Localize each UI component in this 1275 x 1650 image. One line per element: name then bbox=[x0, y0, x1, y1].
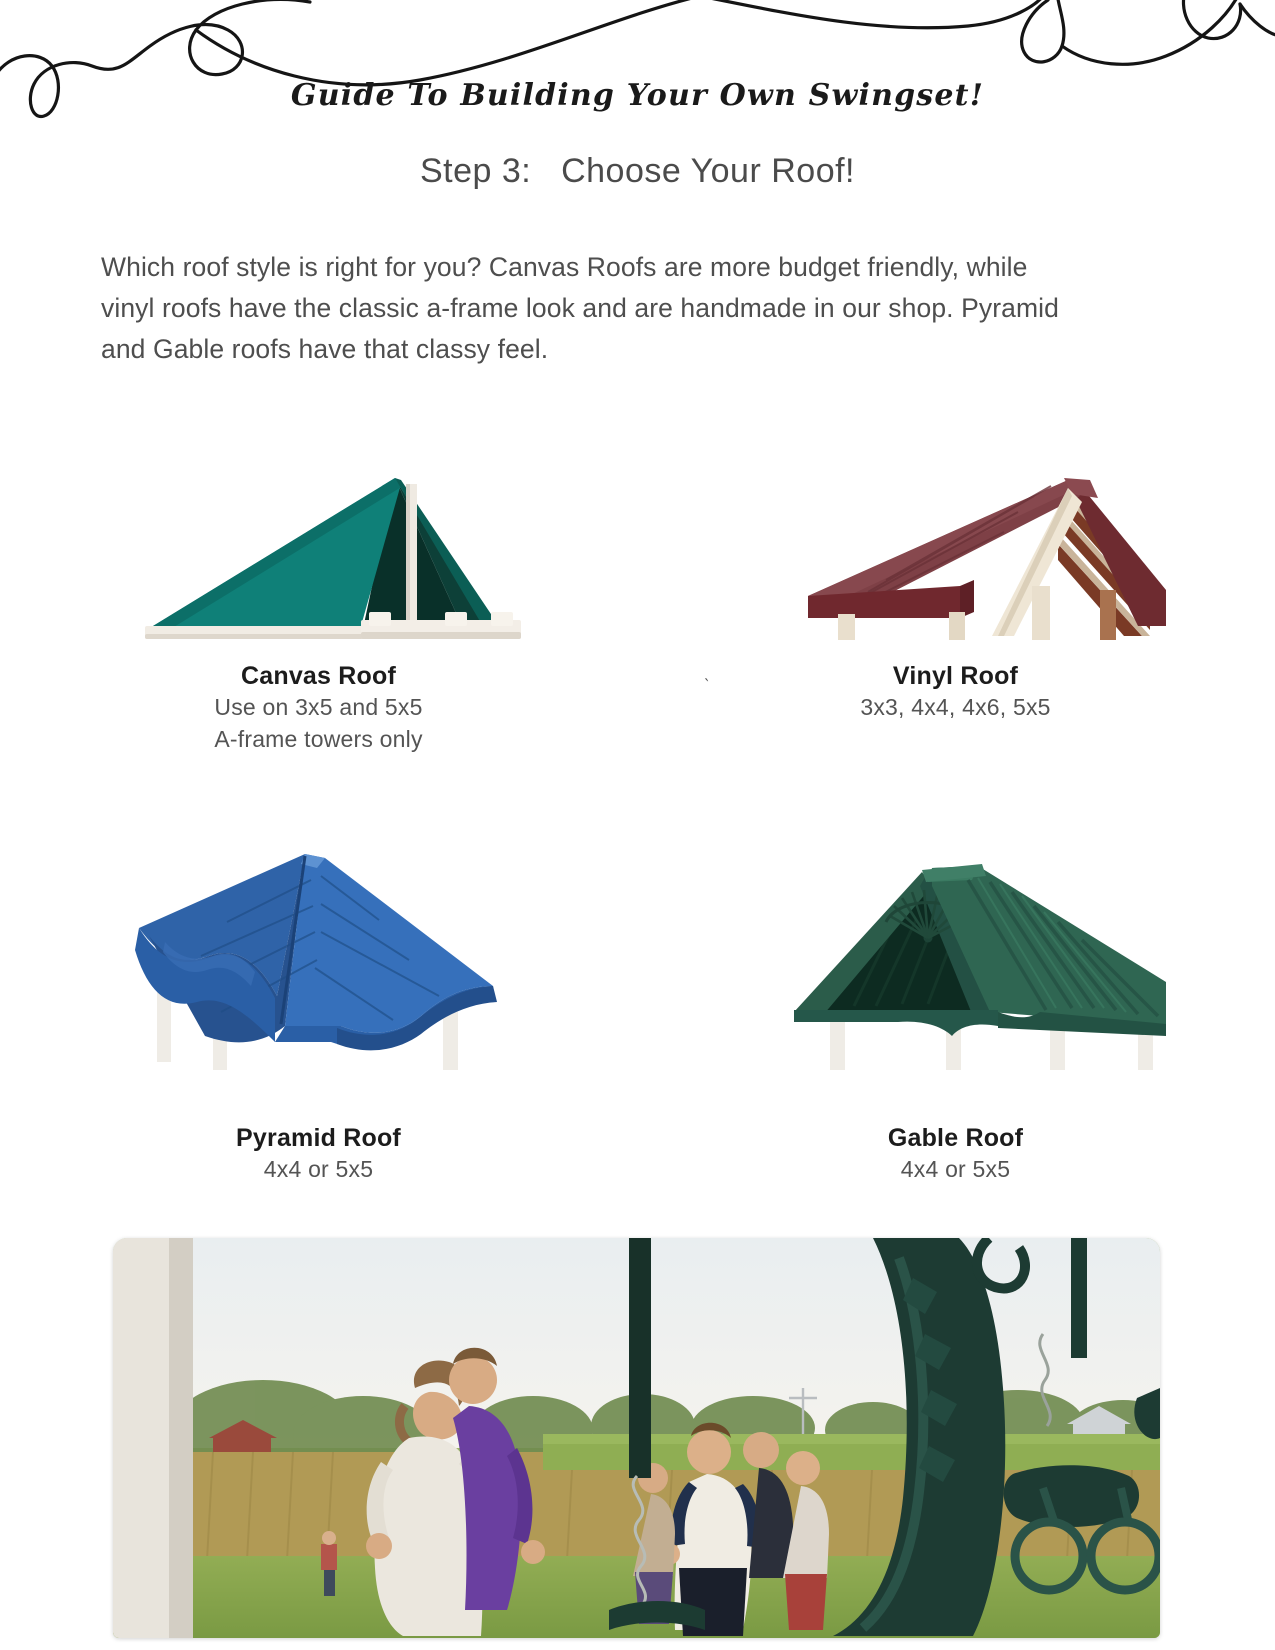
roof-options-grid: Canvas Roof Use on 3x5 and 5x5 A-frame t… bbox=[0, 440, 1275, 1185]
roof-option-vinyl[interactable]: Vinyl Roof 3x3, 4x4, 4x6, 5x5 bbox=[637, 440, 1274, 755]
gable-roof-image bbox=[746, 810, 1166, 1070]
pyramid-roof-image bbox=[109, 810, 529, 1070]
gable-roof-sub-1: 4x4 or 5x5 bbox=[888, 1153, 1023, 1185]
children-running-photo-image bbox=[113, 1238, 1160, 1638]
gable-roof-title: Gable Roof bbox=[888, 1124, 1023, 1153]
roof-option-pyramid[interactable]: Pyramid Roof 4x4 or 5x5 bbox=[0, 810, 637, 1185]
canvas-roof-image bbox=[109, 440, 529, 640]
playground-photo bbox=[113, 1238, 1160, 1638]
vinyl-roof-caption: Vinyl Roof 3x3, 4x4, 4x6, 5x5 bbox=[860, 662, 1050, 723]
canvas-roof-sub-2: A-frame towers only bbox=[214, 723, 422, 755]
intro-paragraph: Which roof style is right for you? Canva… bbox=[101, 247, 1061, 370]
roof-row-2: Pyramid Roof 4x4 or 5x5 bbox=[0, 810, 1275, 1185]
canvas-roof-figure bbox=[0, 440, 637, 640]
vinyl-roof-title: Vinyl Roof bbox=[860, 662, 1050, 691]
roof-option-canvas[interactable]: Canvas Roof Use on 3x5 and 5x5 A-frame t… bbox=[0, 440, 637, 755]
pyramid-roof-caption: Pyramid Roof 4x4 or 5x5 bbox=[236, 1124, 401, 1185]
canvas-roof-title: Canvas Roof bbox=[214, 662, 422, 691]
roof-option-gable[interactable]: Gable Roof 4x4 or 5x5 bbox=[637, 810, 1274, 1185]
pyramid-roof-title: Pyramid Roof bbox=[236, 1124, 401, 1153]
vinyl-roof-sub-1: 3x3, 4x4, 4x6, 5x5 bbox=[860, 691, 1050, 723]
gable-roof-figure bbox=[637, 810, 1274, 1070]
page-title: Guide To Building Your Own Swingset! bbox=[0, 78, 1275, 113]
step-heading: Step 3: Choose Your Roof! bbox=[0, 152, 1275, 191]
vinyl-roof-image bbox=[746, 440, 1166, 640]
pyramid-roof-figure bbox=[0, 810, 637, 1070]
canvas-roof-sub-1: Use on 3x5 and 5x5 bbox=[214, 691, 422, 723]
canvas-roof-caption: Canvas Roof Use on 3x5 and 5x5 A-frame t… bbox=[214, 662, 422, 755]
roof-row-1: Canvas Roof Use on 3x5 and 5x5 A-frame t… bbox=[0, 440, 1275, 755]
vinyl-roof-figure bbox=[637, 440, 1274, 640]
pyramid-roof-sub-1: 4x4 or 5x5 bbox=[236, 1153, 401, 1185]
gable-roof-caption: Gable Roof 4x4 or 5x5 bbox=[888, 1124, 1023, 1185]
